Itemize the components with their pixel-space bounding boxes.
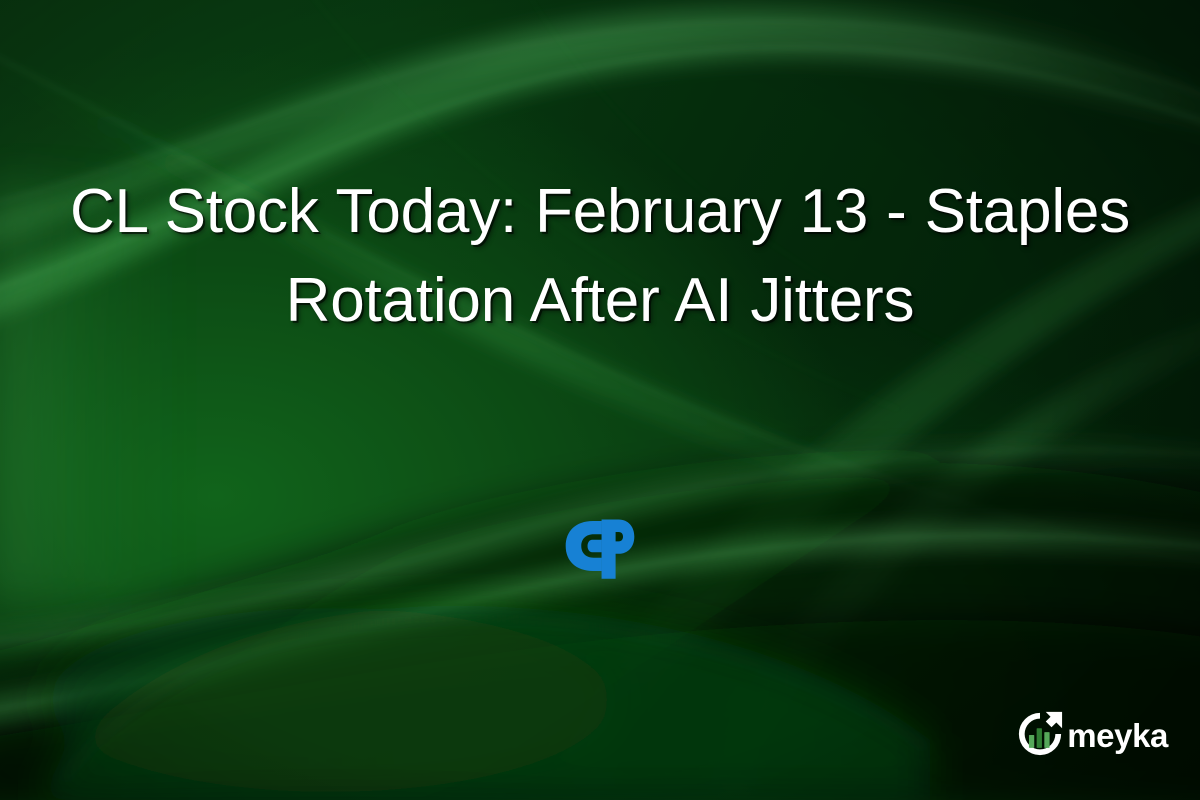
title-container: CL Stock Today: February 13 - Staples Ro…: [0, 168, 1200, 345]
background-vignette: [0, 0, 1200, 800]
meyka-bar-chart-ring-icon: [1016, 710, 1064, 758]
page-title: CL Stock Today: February 13 - Staples Ro…: [66, 168, 1134, 345]
meyka-brand-lockup: meyka: [1016, 710, 1168, 758]
brand-name: meyka: [1067, 719, 1168, 752]
social-share-card: CL Stock Today: February 13 - Staples Ro…: [0, 0, 1200, 800]
colgate-palmolive-cp-monogram-icon: [561, 507, 639, 585]
